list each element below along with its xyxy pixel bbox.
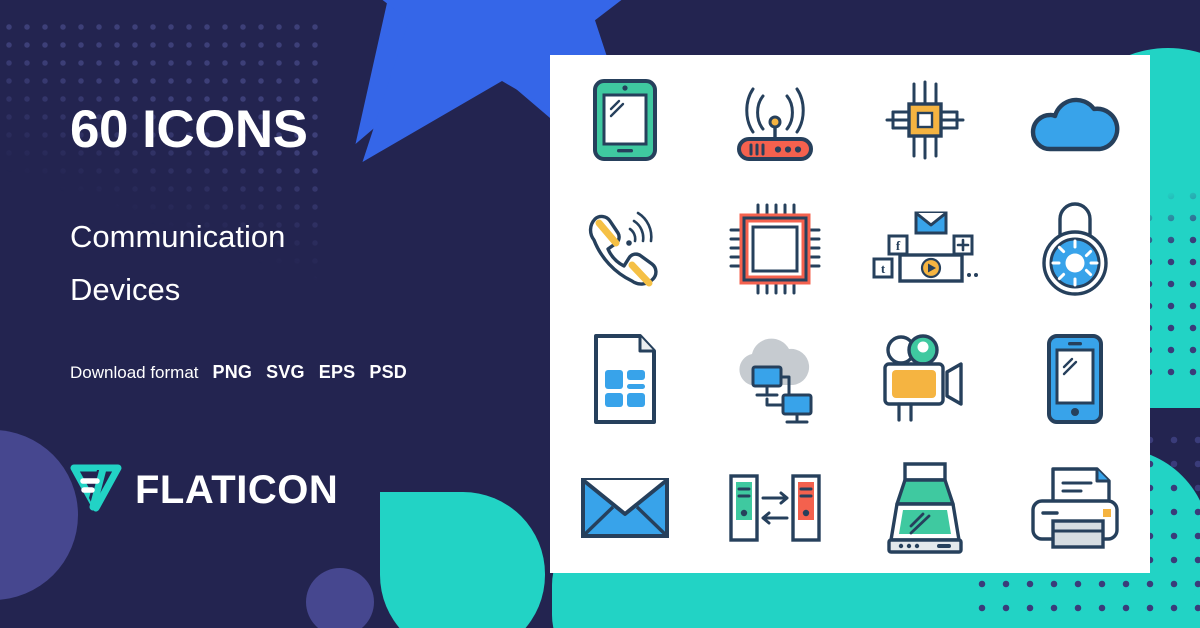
icon-cell[interactable] — [850, 55, 1000, 185]
smartphone-icon — [1044, 333, 1106, 425]
icon-cell[interactable] — [700, 55, 850, 185]
subtitle-line-1: Communication — [70, 210, 470, 263]
processor-chip-icon — [877, 76, 973, 164]
printer-icon — [1027, 465, 1123, 551]
cloud-icon — [1026, 83, 1124, 157]
envelope-icon — [579, 474, 671, 542]
icon-cell[interactable] — [1000, 444, 1150, 574]
icon-cell[interactable] — [550, 444, 700, 574]
download-format-row: Download format PNG SVG EPS PSD — [70, 362, 407, 383]
page-subtitle: Communication Devices — [70, 210, 470, 317]
format-svg[interactable]: SVG — [266, 362, 305, 383]
icon-grid-card: f t — [550, 55, 1150, 573]
svg-text:t: t — [881, 261, 886, 276]
icon-cell[interactable] — [700, 314, 850, 444]
subtitle-line-2: Devices — [70, 263, 470, 316]
video-camera-icon — [873, 332, 977, 426]
sim-card-icon — [588, 332, 662, 426]
purple-circle-left — [0, 430, 78, 600]
download-format-list: PNG SVG EPS PSD — [213, 362, 407, 383]
phone-call-icon — [577, 203, 673, 295]
format-png[interactable]: PNG — [213, 362, 253, 383]
wifi-router-icon — [725, 76, 825, 164]
icon-cell[interactable] — [1000, 185, 1150, 315]
download-format-label: Download format — [70, 363, 199, 383]
icon-cell[interactable]: f t — [850, 185, 1000, 315]
icon-cell[interactable] — [550, 314, 700, 444]
brand-name: FLATICON — [135, 468, 338, 513]
cpu-icon — [729, 203, 821, 295]
icon-cell[interactable] — [850, 314, 1000, 444]
icon-cell[interactable] — [550, 185, 700, 315]
flaticon-logo-icon — [70, 464, 122, 517]
format-psd[interactable]: PSD — [369, 362, 407, 383]
brand-logo[interactable]: FLATICON — [70, 464, 338, 517]
padlock-icon — [1032, 201, 1118, 297]
multimedia-share-icon: f t — [870, 209, 980, 289]
icon-cell[interactable] — [850, 444, 1000, 574]
poster-canvas: 60 ICONS Communication Devices Download … — [0, 0, 1200, 628]
icon-cell[interactable] — [700, 444, 850, 574]
icon-cell[interactable] — [1000, 314, 1150, 444]
icon-cell[interactable] — [550, 55, 700, 185]
scanner-icon — [883, 460, 967, 556]
cloud-network-icon — [725, 333, 825, 425]
svg-text:f: f — [896, 238, 901, 253]
text-column: 60 ICONS Communication Devices Download … — [70, 0, 510, 628]
tablet-icon — [589, 77, 661, 163]
icon-cell[interactable] — [1000, 55, 1150, 185]
icon-cell[interactable] — [700, 185, 850, 315]
data-transfer-icon — [727, 472, 823, 544]
format-eps[interactable]: EPS — [319, 362, 356, 383]
page-title: 60 ICONS — [70, 103, 308, 156]
teal-band-bottom — [600, 572, 1200, 628]
